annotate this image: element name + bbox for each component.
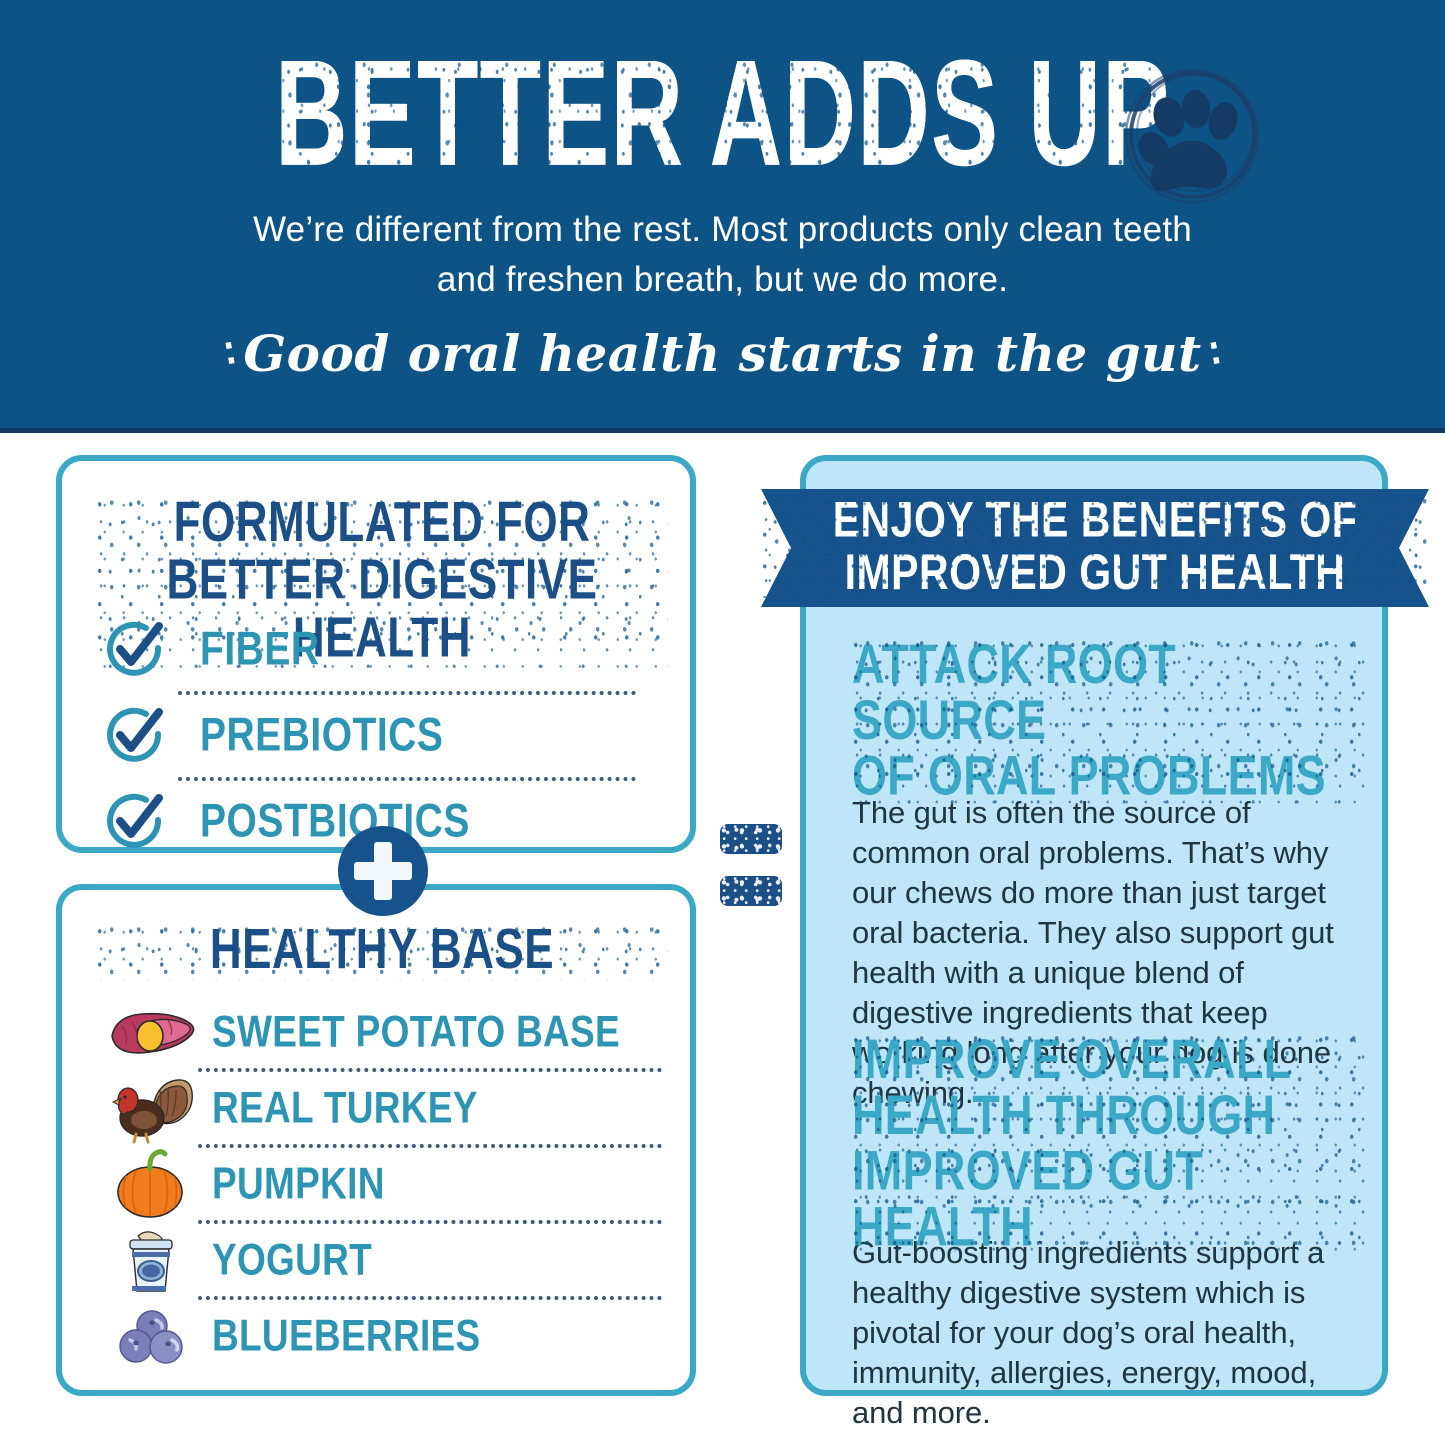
equals-bar-bottom (720, 876, 782, 906)
yogurt-cup-icon (102, 1224, 198, 1296)
list-item-label: POSTBIOTICS (200, 796, 470, 849)
header-banner: BETTER ADDS UP We’re different from the … (0, 0, 1445, 433)
divider-dotted (178, 691, 636, 695)
benefit-1-heading: ATTACK ROOT SOURCE OF ORAL PROBLEMS (852, 636, 1372, 803)
ribbon-line1: ENJOY THE BENEFITS OF (761, 494, 1429, 546)
list-item-label: BLUEBERRIES (212, 1311, 481, 1361)
list-item[interactable]: PUMPKIN (102, 1148, 672, 1220)
benefit-1-heading-line2: OF ORAL PROBLEMS (852, 748, 1372, 804)
benefit-1-heading-line1: ATTACK ROOT SOURCE (852, 636, 1372, 748)
benefit-2-heading-line3: IMPROVED GUT HEALTH (852, 1143, 1372, 1255)
check-circle-icon (102, 705, 178, 767)
list-item[interactable]: YOGURT (102, 1224, 672, 1296)
equals-sign-icon (720, 824, 782, 906)
benefit-2-heading-line2: HEALTH THROUGH (852, 1087, 1372, 1143)
list-item-label: FIBER (200, 624, 320, 677)
benefit-2-heading-line1: IMPROVE OVERALL (852, 1031, 1372, 1087)
tagline-dash-left: ∶ (221, 330, 240, 377)
benefit-block-2: IMPROVE OVERALL HEALTH THROUGH IMPROVED … (852, 1031, 1372, 1433)
plus-icon (338, 826, 428, 916)
header-subtitle: We’re different from the rest. Most prod… (123, 205, 1323, 304)
list-item[interactable]: PREBIOTICS (102, 695, 662, 777)
list-item-label: PREBIOTICS (200, 710, 443, 763)
turkey-icon (102, 1072, 198, 1144)
header-subtitle-line2: and freshen breath, but we do more. (123, 255, 1323, 305)
list-item[interactable]: SWEET POTATO BASE (102, 996, 672, 1068)
divider-dotted (198, 1144, 662, 1148)
list-item[interactable]: FIBER (102, 609, 662, 691)
list-item-label: PUMPKIN (212, 1159, 385, 1209)
header-subtitle-line1: We’re different from the rest. Most prod… (123, 205, 1323, 255)
sweet-potato-icon (102, 996, 198, 1068)
page-title: BETTER ADDS UP (275, 39, 1170, 190)
benefit-2-heading: IMPROVE OVERALL HEALTH THROUGH IMPROVED … (852, 1031, 1372, 1254)
list-item[interactable]: REAL TURKEY (102, 1072, 672, 1144)
check-circle-icon (102, 791, 178, 853)
formulated-card: FORMULATED FOR BETTER DIGESTIVE HEALTH F… (56, 455, 696, 853)
list-item-label: YOGURT (212, 1235, 372, 1285)
formulated-checklist: FIBER PREBIOTICS POSTBIOTICS (102, 609, 662, 863)
equals-bar-top (720, 824, 782, 854)
divider-dotted (178, 777, 636, 781)
divider-dotted (198, 1296, 662, 1300)
ingredient-list: SWEET POTATO BASE REAL TURKEY (102, 996, 672, 1372)
divider-dotted (198, 1220, 662, 1224)
divider-dotted (198, 1068, 662, 1072)
list-item-label: SWEET POTATO BASE (212, 1007, 620, 1057)
list-item-label: REAL TURKEY (212, 1083, 478, 1133)
tagline-text: Good oral health starts in the gut (243, 324, 1201, 383)
benefit-2-body: Gut-boosting ingredients support a healt… (852, 1233, 1372, 1433)
blueberries-icon (102, 1300, 198, 1372)
check-circle-icon (102, 619, 178, 681)
healthy-base-card-title: HEALTHY BASE (96, 922, 668, 979)
ribbon-banner-title: ENJOY THE BENEFITS OF IMPROVED GUT HEALT… (761, 494, 1429, 598)
pumpkin-icon (102, 1148, 198, 1220)
paw-print-icon (1113, 55, 1273, 215)
ribbon-line2: IMPROVED GUT HEALTH (761, 546, 1429, 598)
healthy-base-card: HEALTHY BASE SWEET POTATO BASE (56, 884, 696, 1396)
list-item[interactable]: BLUEBERRIES (102, 1300, 672, 1372)
header-tagline: ∶Good oral health starts in the gut∶ (123, 324, 1323, 383)
tagline-dash-right: ∶ (1206, 330, 1225, 377)
